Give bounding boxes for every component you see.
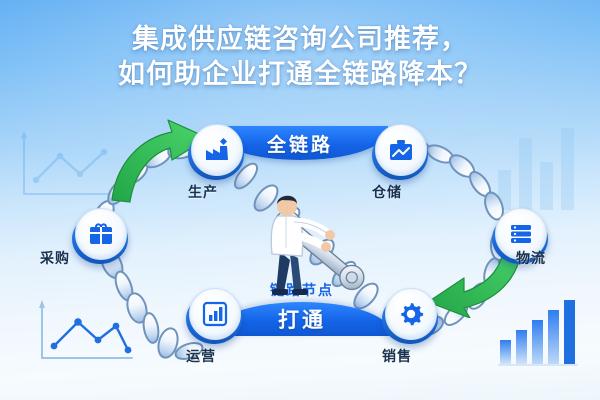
factory-icon — [203, 136, 231, 164]
node-procurement[interactable] — [72, 208, 128, 264]
node-disc — [75, 208, 127, 260]
node-sales[interactable] — [382, 288, 438, 344]
node-label-sales: 销售 — [382, 346, 412, 366]
node-disc — [191, 124, 243, 176]
bar-chart-icon — [201, 300, 229, 328]
node-disc — [189, 288, 241, 340]
title-line-1: 集成供应链咨询公司推荐， — [132, 24, 468, 54]
node-warehouse[interactable] — [372, 124, 428, 180]
worker-with-wrench-illustration — [250, 188, 380, 300]
gear-icon — [397, 300, 425, 328]
node-label-procurement: 采购 — [40, 248, 70, 268]
title-line-2: 如何助企业打通全链路降本？ — [0, 57, 600, 92]
node-label-operations: 运营 — [186, 346, 216, 366]
node-disc — [385, 288, 437, 340]
banner-full-chain-label: 全链路 — [267, 130, 333, 157]
node-label-warehouse: 仓储 — [372, 182, 402, 202]
server-icon — [507, 220, 535, 248]
poster-canvas: 集成供应链咨询公司推荐， 如何助企业打通全链路降本？ — [0, 0, 600, 400]
node-disc — [375, 124, 427, 176]
package-icon — [87, 220, 115, 248]
decorative-bar-chart-icon — [496, 296, 584, 370]
poster-title: 集成供应链咨询公司推荐， 如何助企业打通全链路降本？ — [0, 22, 600, 92]
decorative-line-chart-icon — [30, 296, 136, 372]
node-label-production: 生产 — [188, 182, 218, 202]
node-production[interactable] — [188, 124, 244, 180]
banner-break-through-label: 打通 — [278, 304, 326, 334]
warehouse-icon — [387, 136, 415, 164]
node-label-logistics: 物流 — [516, 248, 546, 268]
node-operations[interactable] — [186, 288, 242, 344]
